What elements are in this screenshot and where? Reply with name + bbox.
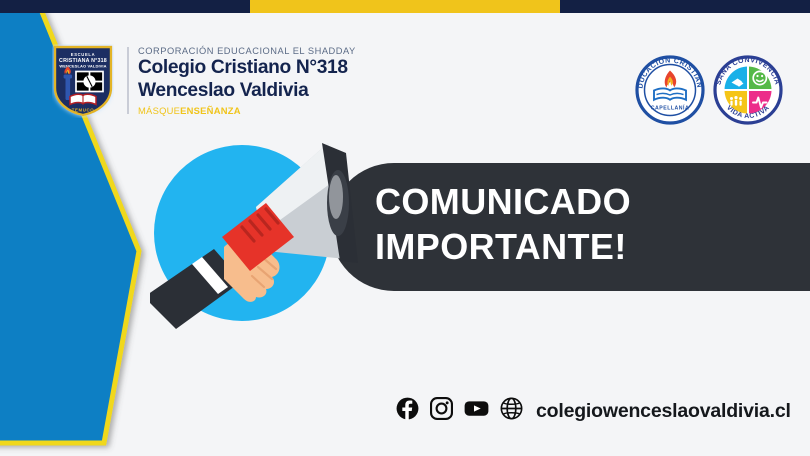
svg-text:TEMUCO: TEMUCO [72,107,95,112]
website-url[interactable]: colegiowenceslaovaldivia.cl [536,400,791,423]
header: ESCUELA CRISTIANA N°318 WENCESLAO VALDIV… [52,44,356,118]
globe-icon[interactable] [500,397,523,425]
tagline-light-part: MÁSQUE [138,105,180,116]
top-bar-segment-navy-right [560,0,810,13]
facebook-icon[interactable] [396,397,419,425]
announcement-title-line2: IMPORTANTE! [375,224,810,269]
announcement-title-line1: COMUNICADO [375,179,810,224]
poster-canvas: ESCUELA CRISTIANA N°318 WENCESLAO VALDIV… [0,13,810,456]
top-bar-segment-yellow [250,0,560,13]
school-name-line1: Colegio Cristiano N°318 [138,57,356,79]
program-badges: EDUCACIÓN CRISTIANA CAPELLANÍA [634,54,784,131]
school-name-line2: Wenceslao Valdivia [138,80,356,102]
social-icon-group [396,397,523,425]
svg-text:CAPELLANÍA: CAPELLANÍA [651,104,689,112]
youtube-icon[interactable] [464,397,489,425]
educacion-cristiana-badge-icon: EDUCACIÓN CRISTIANA CAPELLANÍA [634,54,706,131]
hero-announcement: COMUNICADO IMPORTANTE! [150,141,750,341]
sana-convivencia-badge-icon: SANA CONVIVENCIA VIDA ACTIVA [712,54,784,131]
tagline-bold-part: ENSEÑANZA [180,105,241,116]
svg-text:ESCUELA: ESCUELA [71,52,95,57]
school-tagline: MÁSQUEENSEÑANZA [138,105,356,117]
megaphone-illustration-icon [150,141,380,331]
school-name-block: CORPORACIÓN EDUCACIONAL EL SHADDAY Coleg… [127,45,356,117]
top-accent-bar [0,0,810,13]
announcement-title: COMUNICADO IMPORTANTE! [375,179,810,269]
school-crest-icon: ESCUELA CRISTIANA N°318 WENCESLAO VALDIV… [52,44,114,118]
top-bar-segment-navy-left [0,0,250,13]
corporation-line: CORPORACIÓN EDUCACIONAL EL SHADDAY [138,45,356,57]
instagram-icon[interactable] [430,397,453,425]
footer-social-bar: colegiowenceslaovaldivia.cl [396,397,791,425]
